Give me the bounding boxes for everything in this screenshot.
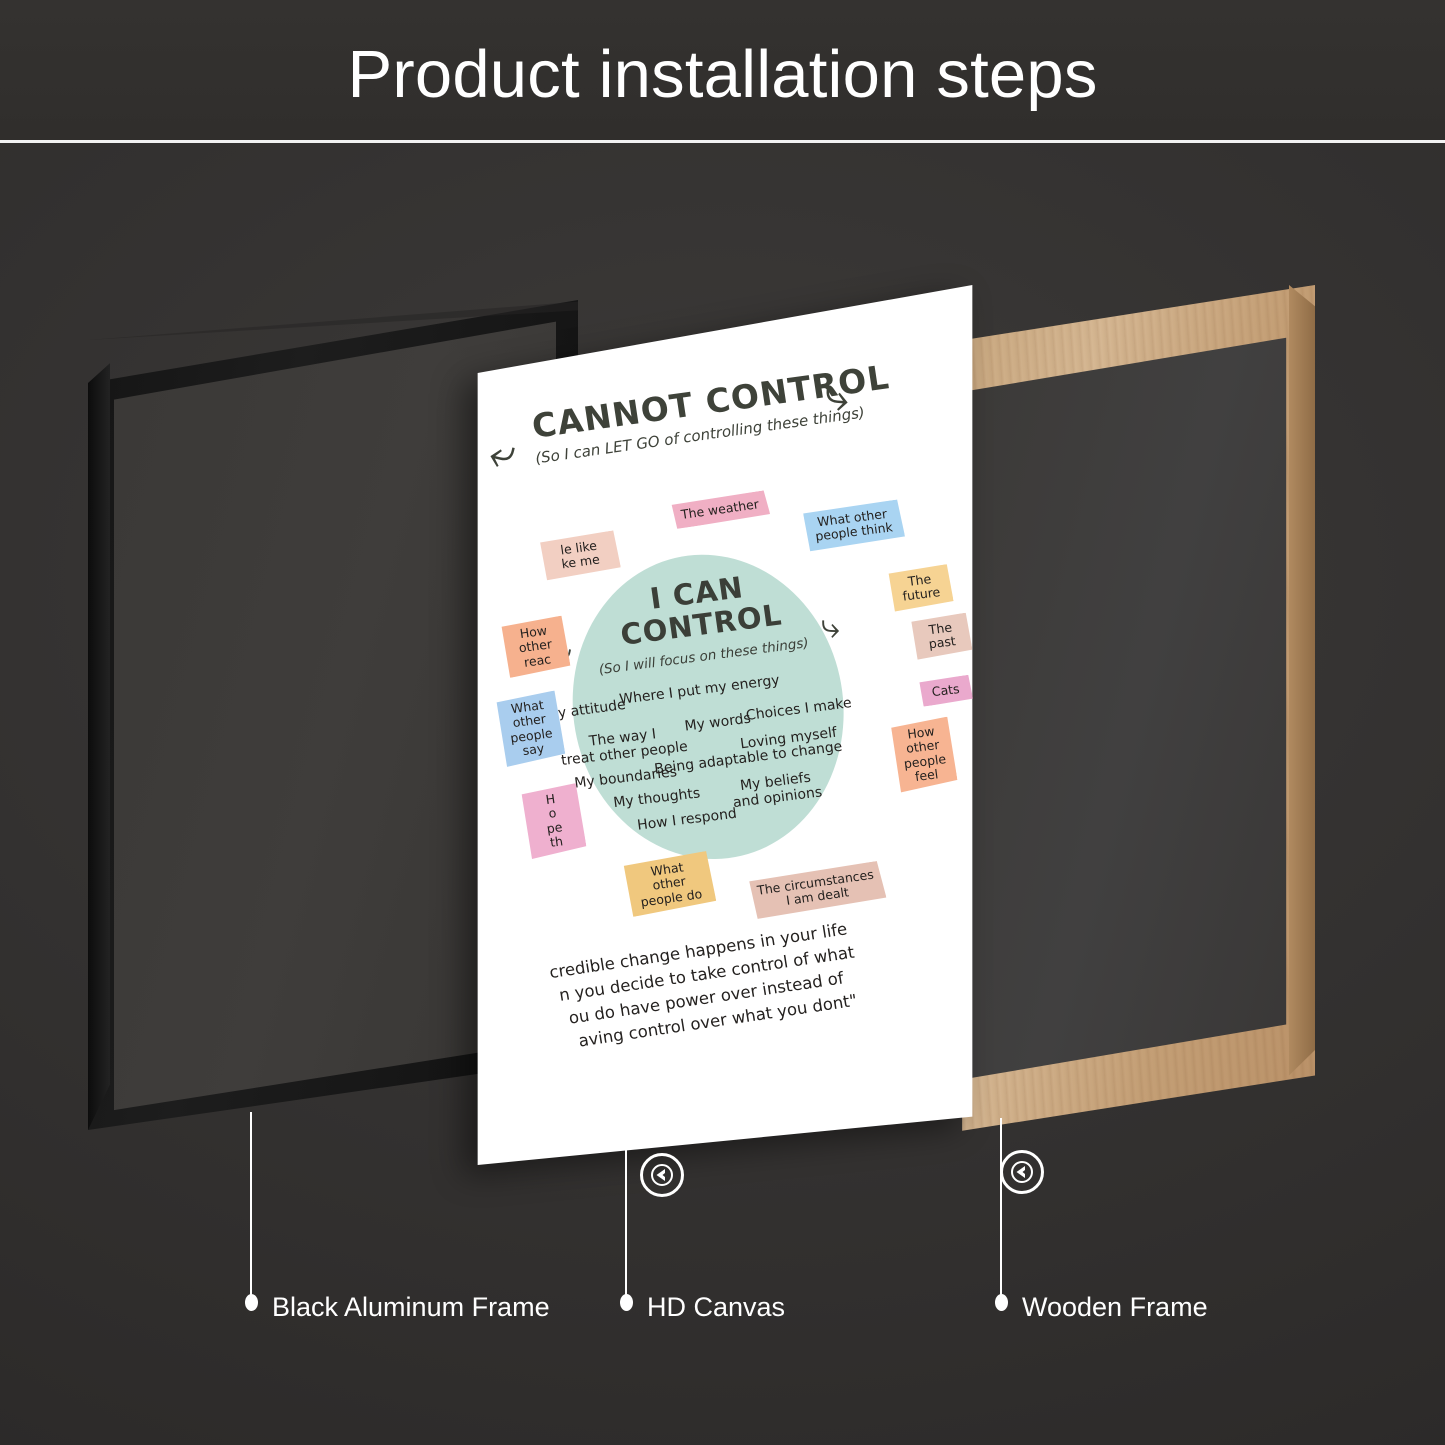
poster-quote: credible change happens in your lifen yo… (548, 903, 958, 1056)
callout-label: Black Aluminum Frame (272, 1292, 550, 1323)
curved-arrow-icon: ⤷ (486, 429, 520, 477)
curved-arrow-icon: ⤷ (821, 609, 840, 643)
callout-dot (995, 1294, 1008, 1311)
sticky-note: Hopeth (520, 783, 587, 859)
can-control-item-list: My attitudeWhere I put my energyThe way … (428, 265, 936, 309)
left-arrow-circle-icon (1000, 1150, 1044, 1194)
sticky-note: What otherpeople think (801, 499, 906, 552)
sticky-note: Thepast (910, 612, 973, 659)
wooden-frame-side-edge (1289, 285, 1315, 1135)
sticky-note: Thefuture (887, 564, 954, 612)
callout-line (1000, 1118, 1002, 1297)
callout-label: HD Canvas (647, 1292, 785, 1323)
cannot-control-sticky-notes: The weatherWhat otherpeople thinkle like… (428, 265, 936, 309)
sticky-note: le likeke me (538, 530, 621, 581)
hd-canvas-print: CANNOT CONTROL (So I can LET GO of contr… (470, 285, 980, 1165)
sticky-note: Cats (918, 675, 973, 707)
callout-line (250, 1112, 252, 1297)
sticky-note: What otherpeople do (622, 851, 717, 918)
sticky-note: Howotherpeoplefeel (889, 716, 958, 792)
callout-dot (245, 1294, 258, 1311)
header-divider (0, 140, 1445, 143)
page-title: Product installation steps (0, 36, 1445, 113)
left-arrow-circle-icon (640, 1153, 684, 1197)
callout-dot (620, 1294, 633, 1311)
sticky-note: The weather (670, 490, 771, 530)
poster-artwork: CANNOT CONTROL (So I can LET GO of contr… (428, 265, 1022, 1185)
callout-line (625, 1122, 627, 1297)
sticky-note: Whatotherpeoplesay (495, 690, 566, 767)
product-installation-infographic: Product installation steps CANNOT CONTRO… (0, 0, 1445, 1445)
sticky-note: The circumstancesI am dealt (746, 860, 887, 919)
black-frame-side-edge (88, 300, 110, 1130)
callout-label: Wooden Frame (1022, 1292, 1208, 1323)
curved-arrow-icon: ⤷ (823, 373, 851, 419)
